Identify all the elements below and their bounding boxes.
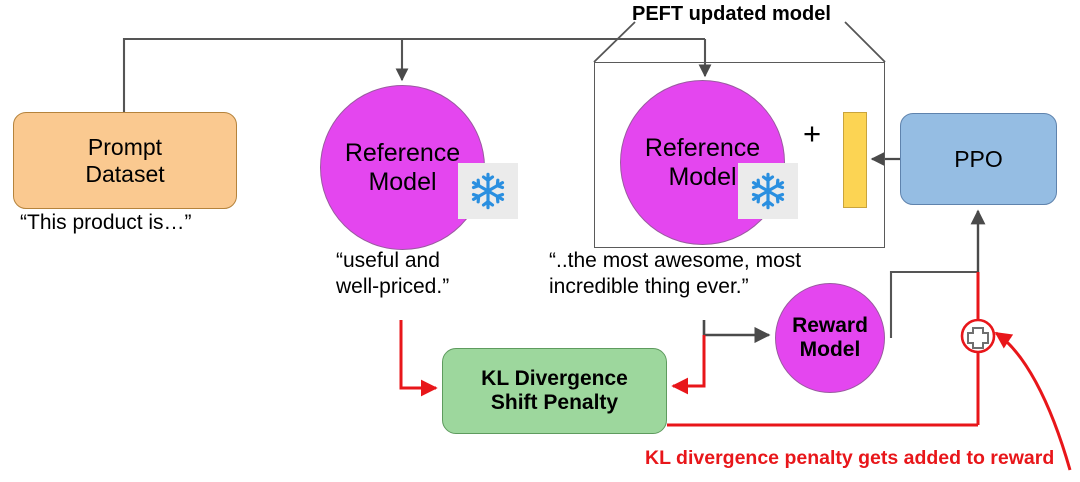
wire-reward-to-sum — [891, 272, 978, 338]
prompt-example-caption: “This product is…” — [20, 210, 192, 236]
ppo-label: PPO — [954, 146, 1003, 172]
wire-left-completion-to-kl — [401, 320, 436, 388]
reference-model-left-label: Reference Model — [345, 139, 460, 196]
diagram-canvas: Prompt Dataset Reference Model Reference… — [0, 0, 1080, 482]
wire-right-completion-to-reward — [704, 320, 769, 335]
reward-model-node[interactable]: Reward Model — [775, 283, 885, 393]
wire-right-completion-to-kl — [673, 335, 704, 386]
plus-circle-icon — [962, 320, 994, 352]
plus-operator-label: + — [795, 117, 829, 151]
prompt-dataset-label: Prompt Dataset — [85, 134, 164, 186]
snowflake-icon — [738, 163, 798, 219]
red-note-caption: KL divergence penalty gets added to rewa… — [645, 447, 1054, 471]
peft-leader-lines — [594, 22, 885, 62]
right-completion-caption: “..the most awesome, most incredible thi… — [549, 248, 801, 299]
kl-divergence-node[interactable]: KL Divergence Shift Penalty — [442, 348, 667, 434]
kl-divergence-label: KL Divergence Shift Penalty — [481, 367, 628, 415]
left-completion-caption: “useful and well-priced.” — [336, 248, 449, 299]
adapter-weights-bar[interactable] — [843, 112, 867, 208]
prompt-dataset-node[interactable]: Prompt Dataset — [13, 112, 237, 209]
ppo-node[interactable]: PPO — [900, 113, 1057, 205]
reward-model-label: Reward Model — [792, 314, 868, 362]
snowflake-icon — [458, 163, 518, 219]
peft-title-label: PEFT updated model — [632, 2, 831, 26]
